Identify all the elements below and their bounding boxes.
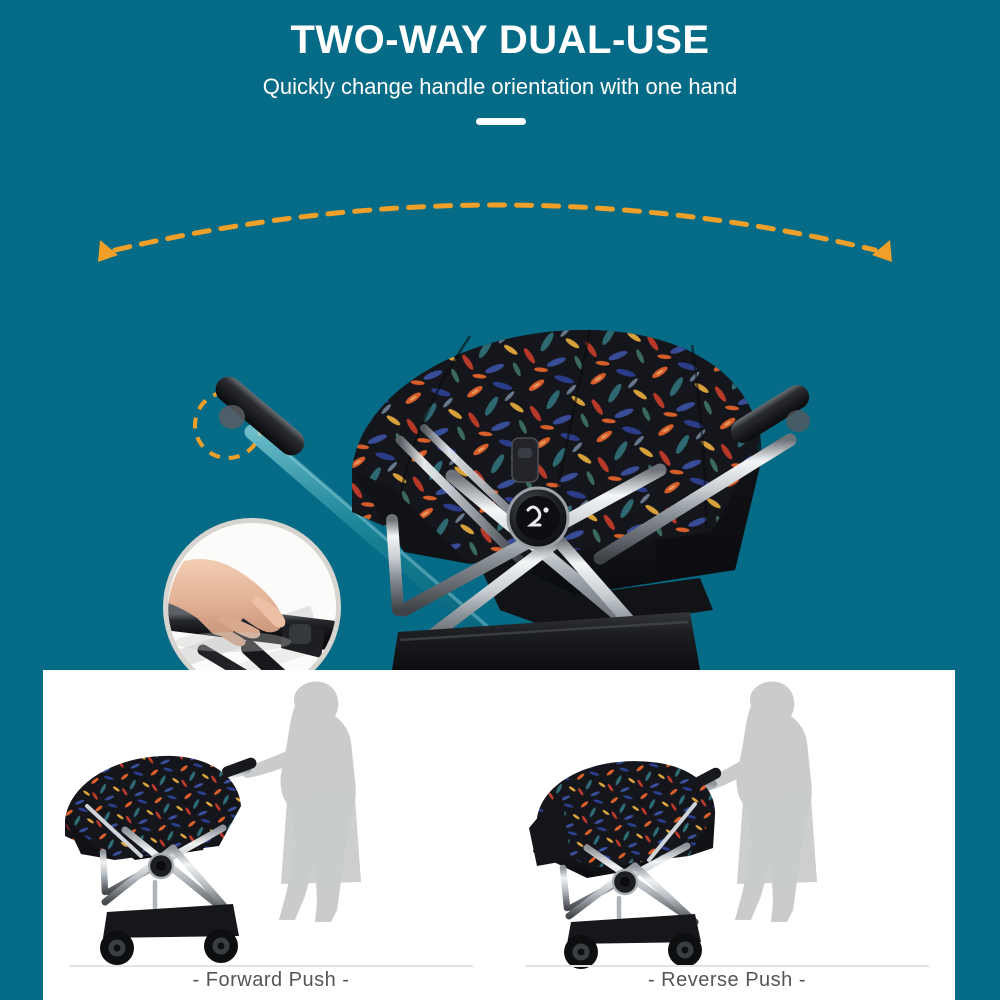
reverse-push-caption: - Reverse Push - xyxy=(499,969,955,992)
stroller-reverse xyxy=(529,761,723,969)
forward-push-caption: - Forward Push - xyxy=(43,969,499,992)
reverse-push-illustration xyxy=(499,670,955,970)
rotation-arrow xyxy=(115,205,875,250)
hero-illustration xyxy=(0,140,1000,670)
page-subtitle: Quickly change handle orientation with o… xyxy=(0,73,1000,101)
header: TWO-WAY DUAL-USE Quickly change handle o… xyxy=(0,0,1000,140)
page-title: TWO-WAY DUAL-USE xyxy=(0,18,1000,62)
harness-clip xyxy=(512,438,538,482)
caregiver-silhouette xyxy=(705,681,817,922)
forward-push-scene: - Forward Push - xyxy=(43,670,499,1000)
forward-push-illustration xyxy=(43,670,499,970)
reverse-push-scene: - Reverse Push - xyxy=(499,670,955,1000)
promo-image: TWO-WAY DUAL-USE Quickly change handle o… xyxy=(0,0,1000,1000)
hub-logo xyxy=(508,488,568,548)
stroller-forward xyxy=(65,756,258,965)
title-divider xyxy=(476,118,526,125)
caregiver-silhouette xyxy=(242,681,361,922)
comparison-panel: - Forward Push - xyxy=(43,670,955,1000)
hero-section: One-handed control xyxy=(0,140,1000,670)
